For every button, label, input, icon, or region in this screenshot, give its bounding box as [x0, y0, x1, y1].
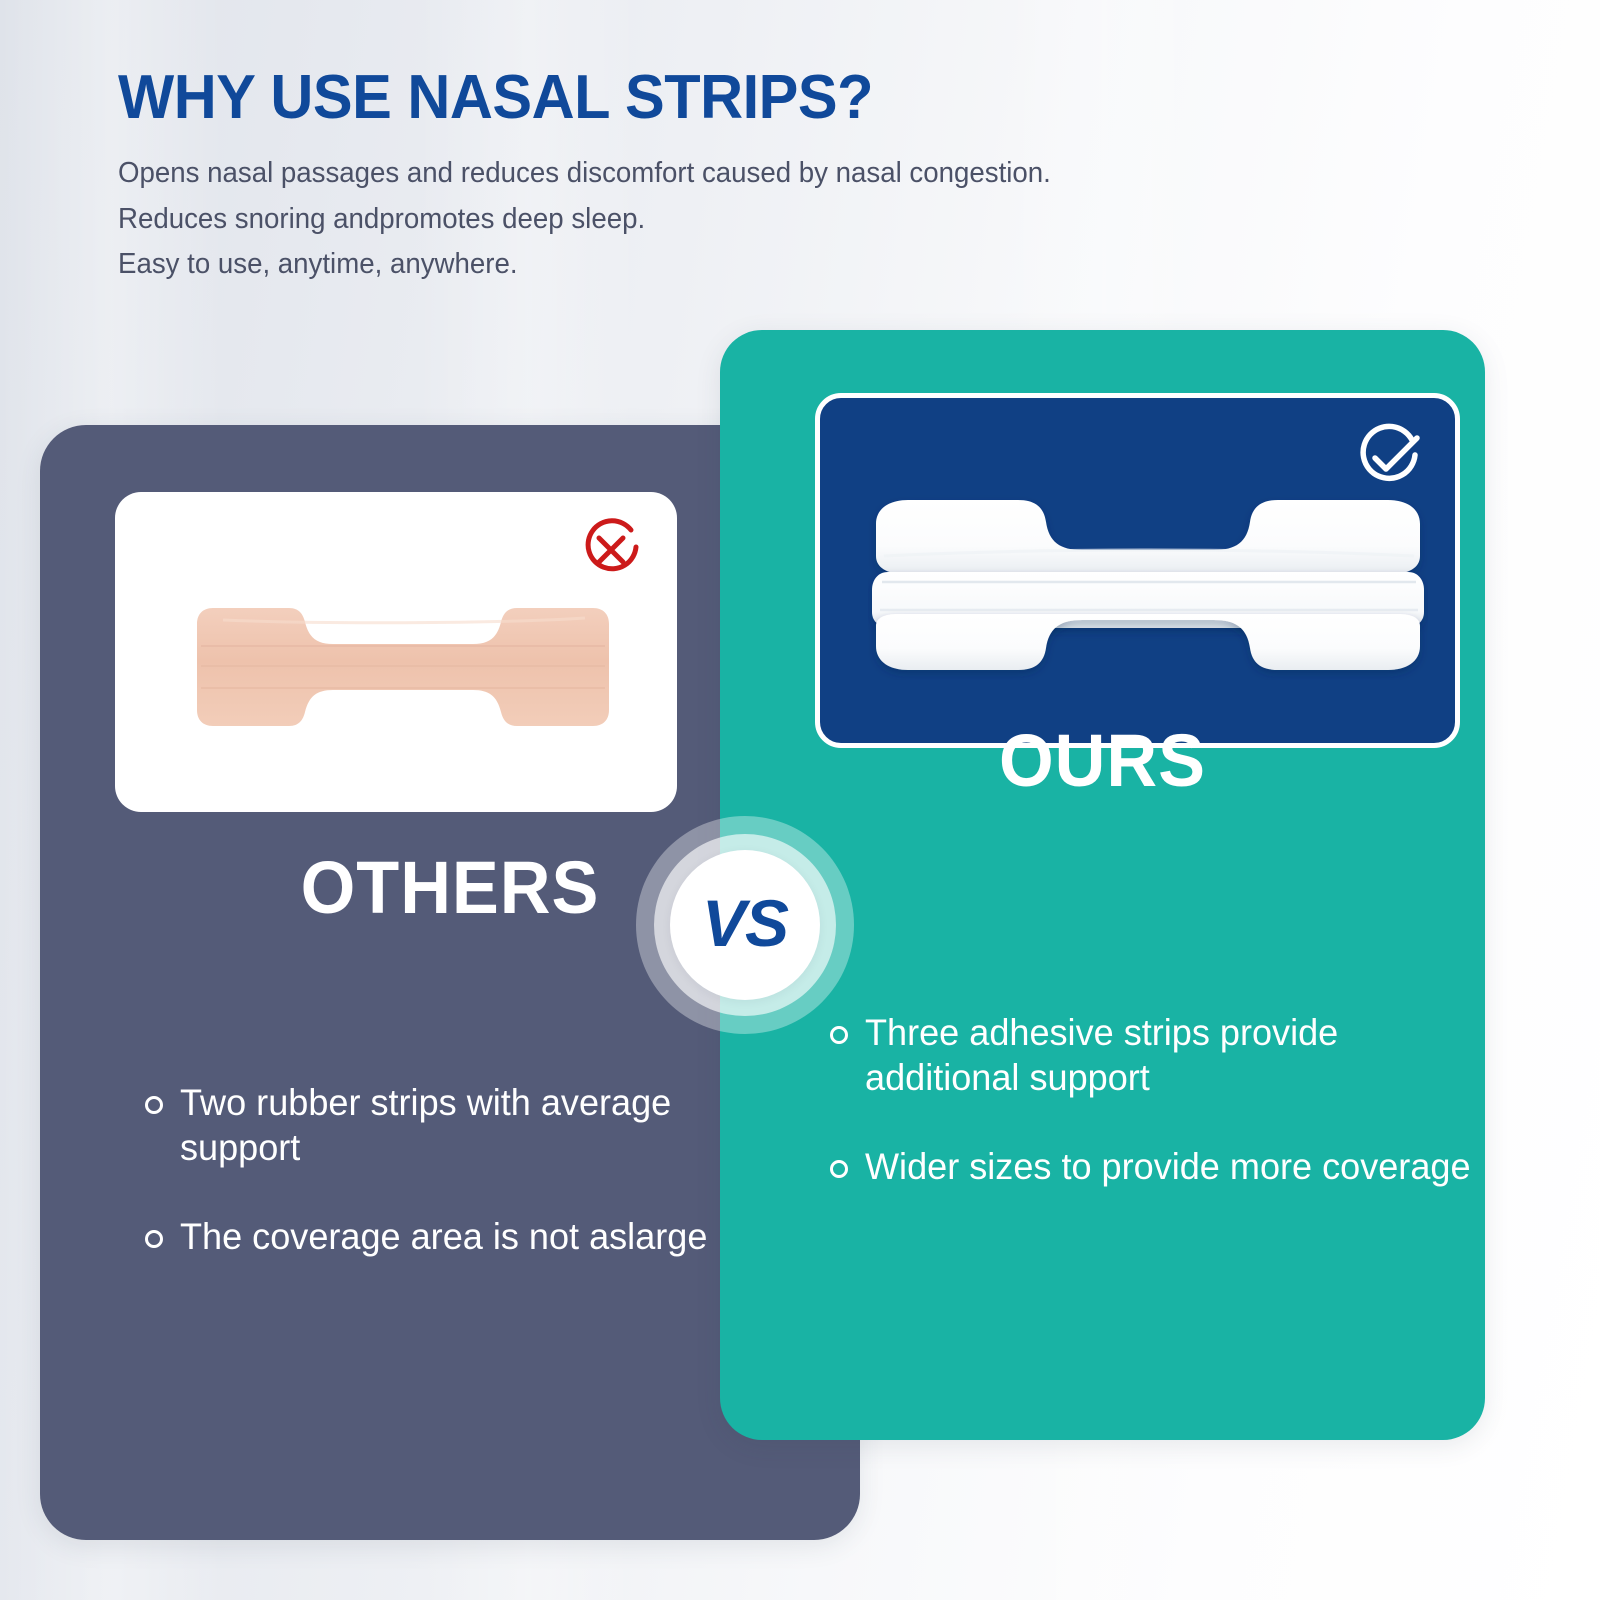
list-item: The coverage area is not aslarge	[145, 1214, 785, 1259]
ours-label: OURS	[739, 718, 1466, 803]
others-bullet-list: Two rubber strips with average support T…	[145, 1080, 785, 1303]
page-title: WHY USE NASAL STRIPS?	[118, 66, 1366, 129]
x-circle-icon	[575, 514, 647, 586]
infographic-canvas: WHY USE NASAL STRIPS? Opens nasal passag…	[0, 0, 1600, 1600]
bullet-dot-icon	[145, 1230, 163, 1248]
ours-bullet-2: Wider sizes to provide more coverage	[865, 1144, 1471, 1189]
vs-label: VS	[702, 885, 788, 961]
vs-badge-core: VS	[670, 850, 820, 1000]
list-item: Two rubber strips with average support	[145, 1080, 785, 1170]
subtitle-line-3: Easy to use, anytime, anywhere.	[118, 242, 1379, 288]
list-item: Three adhesive strips provide additional…	[830, 1010, 1490, 1100]
subtitle-line-2: Reduces snoring andpromotes deep sleep.	[118, 197, 1379, 243]
check-circle-icon	[1349, 418, 1429, 498]
others-bullet-1: Two rubber strips with average support	[180, 1080, 770, 1170]
ours-product-image	[868, 490, 1428, 680]
ours-bullet-1: Three adhesive strips provide additional…	[865, 1010, 1474, 1100]
subtitle-line-1: Opens nasal passages and reduces discomf…	[118, 151, 1379, 197]
list-item: Wider sizes to provide more coverage	[830, 1144, 1490, 1189]
bullet-dot-icon	[145, 1096, 163, 1114]
header: WHY USE NASAL STRIPS? Opens nasal passag…	[118, 66, 1418, 288]
bullet-dot-icon	[830, 1160, 848, 1178]
ours-product-panel	[815, 393, 1460, 748]
vs-badge: VS	[636, 816, 854, 1034]
ours-bullet-list: Three adhesive strips provide additional…	[830, 1010, 1490, 1233]
others-product-image	[193, 602, 613, 732]
others-bullet-2: The coverage area is not aslarge	[180, 1214, 707, 1259]
others-product-panel	[115, 492, 677, 812]
